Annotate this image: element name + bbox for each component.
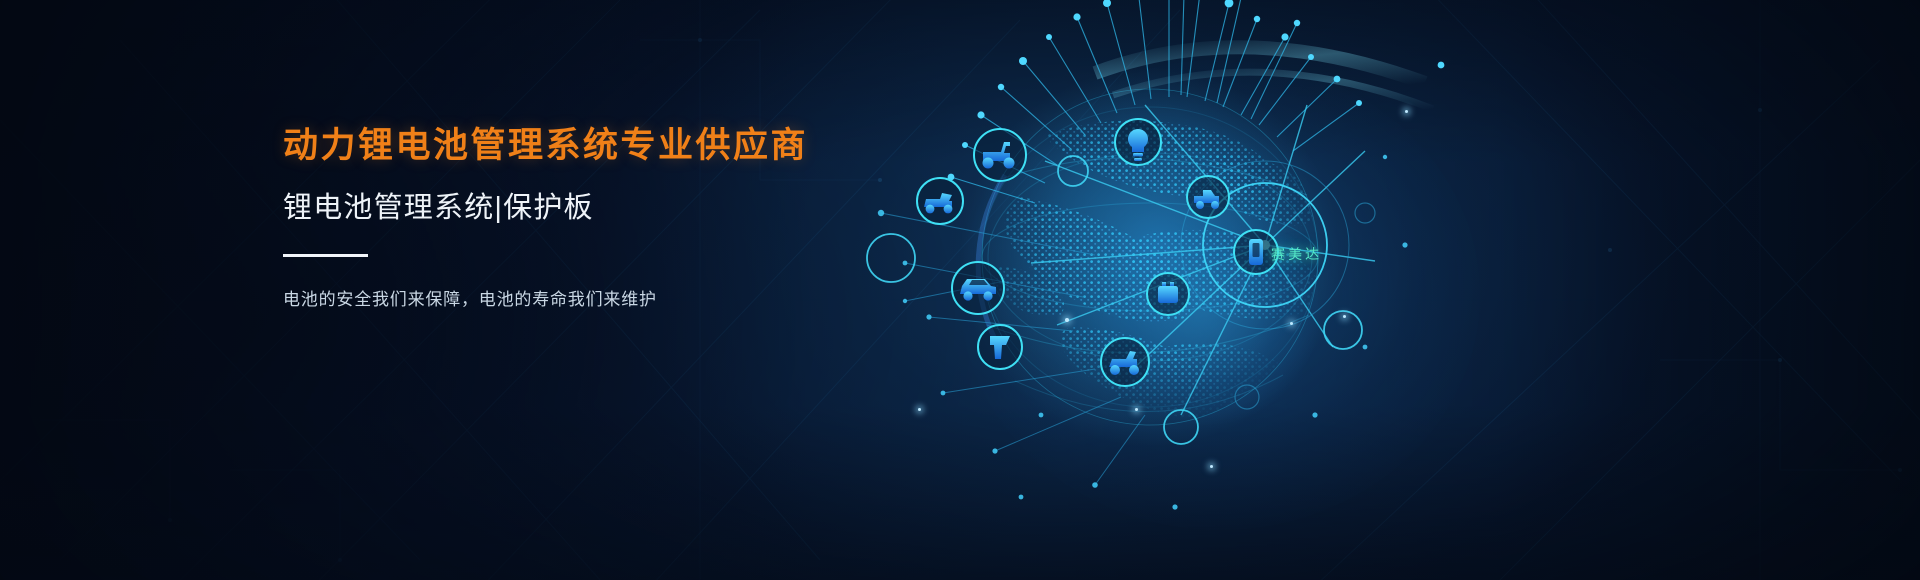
spark-3 (1290, 322, 1293, 325)
node-battery-pack (1147, 273, 1189, 315)
globe-brand-label: 赛美达 (1271, 244, 1322, 265)
spark-6 (918, 408, 921, 411)
spark-2 (1135, 408, 1138, 411)
node-golf-cart (917, 178, 963, 224)
node-car (952, 262, 1004, 314)
node-e-bike (1101, 338, 1149, 386)
banner-headline: 动力锂电池管理系统专业供应商 (283, 124, 903, 168)
hero-banner: 赛美达 动力锂电池管理系统专业供应商 锂电池管理系统|保护板 电池的安全我们来保… (0, 0, 1920, 580)
iot-globe-graphic (845, 0, 1465, 580)
node-lightbulb (1115, 119, 1161, 165)
banner-divider (283, 254, 368, 257)
node-scooter (974, 129, 1026, 181)
node-machinery (1187, 176, 1229, 218)
spark-5 (1210, 465, 1213, 468)
banner-subtitle: 锂电池管理系统|保护板 (283, 190, 903, 226)
banner-tagline: 电池的安全我们来保障，电池的寿命我们来维护 (283, 285, 903, 310)
banner-text-block: 动力锂电池管理系统专业供应商 锂电池管理系统|保护板 电池的安全我们来保障，电池… (283, 124, 903, 310)
spark-7 (1405, 110, 1408, 113)
node-power-tool (978, 325, 1022, 369)
spark-1 (1065, 318, 1069, 322)
spark-4 (1343, 315, 1346, 318)
